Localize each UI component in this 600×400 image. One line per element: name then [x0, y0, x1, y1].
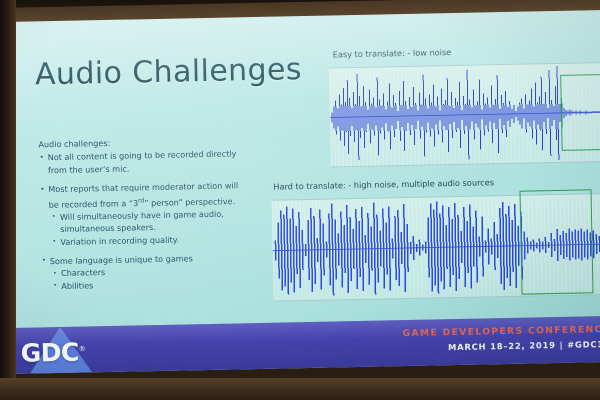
waveform-panel-hard: Hard to translate: - high noise, multipl…	[271, 175, 600, 307]
gdc-logo-text: GDC	[20, 338, 79, 368]
room-wall-lower	[0, 378, 600, 400]
waveform-panel-easy: Easy to translate: - low noise	[329, 44, 600, 170]
highlight-box-easy	[560, 74, 600, 151]
bullet-2-suffix: ” person” perspective.	[144, 196, 235, 208]
slide-surface: Audio Challenges Audio challenges: Not a…	[6, 10, 600, 374]
bullet-2-prefix: be recorded from a “3	[49, 198, 139, 210]
slide-body: Audio challenges: Not all content is goi…	[38, 134, 291, 293]
gdc-footer-bar: GDC® GAME DEVELOPERS CONFERENCE MARCH 18…	[12, 316, 600, 374]
highlight-box-hard	[519, 189, 593, 294]
waveform-label-easy: Easy to translate: - low noise	[333, 47, 452, 59]
photo-stage: Audio Challenges Audio challenges: Not a…	[0, 0, 600, 400]
room-wall-left	[0, 0, 16, 400]
waveform-label-hard: Hard to translate: - high noise, multipl…	[273, 177, 494, 191]
slide-title: Audio Challenges	[35, 52, 302, 92]
conference-name: GAME DEVELOPERS CONFERENCE	[402, 324, 600, 339]
footer-right-block: GAME DEVELOPERS CONFERENCE MARCH 18–22, …	[402, 324, 600, 353]
conference-date: MARCH 18–22, 2019 | #GDC19	[403, 339, 600, 353]
gdc-logo-trademark: ®	[79, 345, 86, 353]
projected-slide: Audio Challenges Audio challenges: Not a…	[6, 10, 600, 374]
gdc-logo: GDC®	[20, 337, 85, 367]
